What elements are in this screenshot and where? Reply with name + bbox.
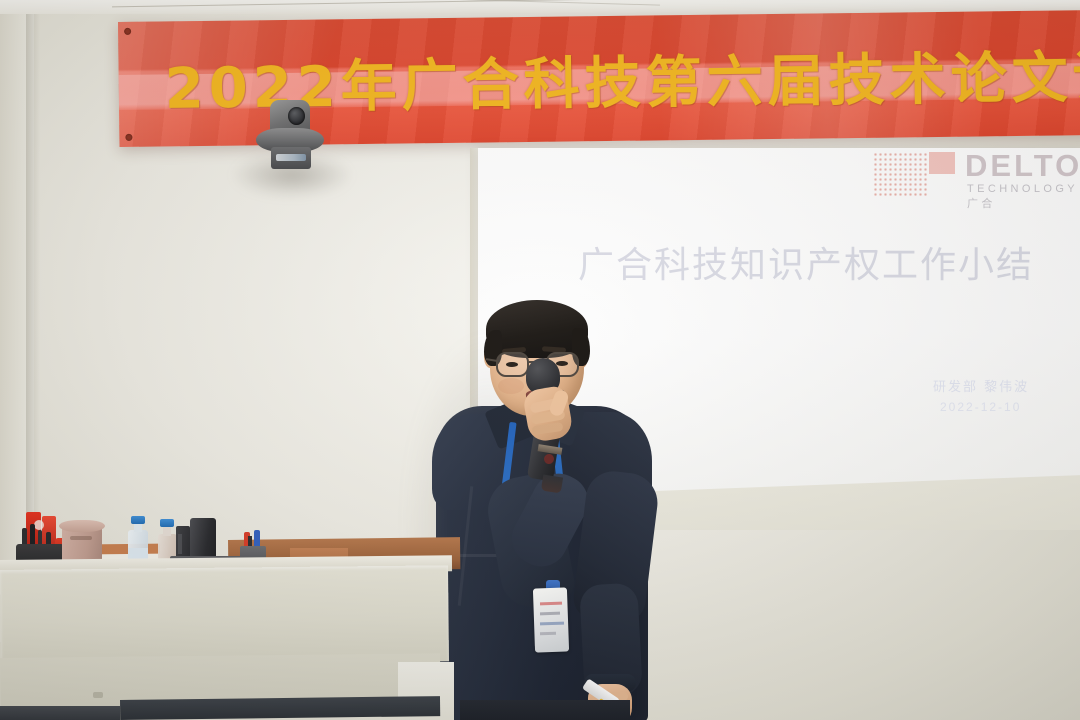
logo-tagline: TECHNOLOGY 广合 [967, 183, 1080, 211]
slide-logo: DELTO TECHNOLOGY 广合 [873, 148, 1080, 206]
banner-grommet-top-left [124, 28, 131, 35]
ptz-conference-camera [252, 100, 326, 172]
pink-cup-lid [59, 520, 105, 532]
podium-base-strip-left [0, 706, 120, 720]
badge-text-line [540, 632, 556, 636]
slide-byline: 研发部 黎伟波 [933, 376, 1029, 395]
microphone-tip [541, 475, 563, 494]
presenter-cheek [498, 378, 524, 394]
photo-scene: 2022年广合科技第六届技术论文评审暨知 DELTO TECHNOLOGY 广合… [0, 0, 1080, 720]
id-badge [533, 587, 569, 652]
presenter-eye-left [506, 362, 518, 367]
logo-dot-pattern-icon [873, 152, 927, 196]
wall-corner-shadow [26, 0, 40, 545]
podium-front-panel [0, 565, 449, 666]
water-bottle-neck [163, 526, 171, 536]
slide-date: 2022-12-10 [940, 400, 1021, 414]
slide-title: 广合科技知识产权工作小结 [578, 236, 1034, 288]
pink-cup-label [70, 536, 92, 540]
jacket-pocket [456, 554, 500, 557]
banner-grommet-bottom-left [125, 134, 132, 141]
tape-roll-icon [34, 520, 44, 530]
water-bottle-cap [160, 519, 174, 527]
camera-lens-icon [288, 107, 305, 125]
presenter-trousers [460, 700, 630, 720]
water-bottle-cap [131, 516, 145, 524]
back-table-trim [92, 544, 160, 555]
logo-block-icon [929, 152, 955, 174]
podium-base-strip [120, 696, 440, 720]
dark-device-highlight [178, 534, 182, 554]
presenter [430, 296, 660, 720]
presenter-eye-right [556, 361, 568, 366]
logo-wordmark: DELTO [965, 148, 1080, 184]
podium-knob [93, 692, 103, 698]
camera-label-strip [276, 154, 306, 161]
